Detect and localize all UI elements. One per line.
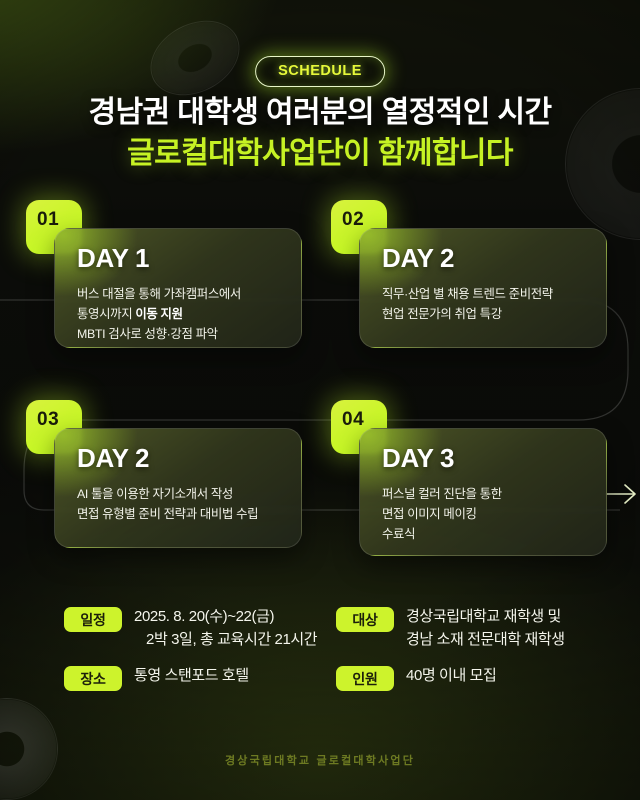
- desc-line: 직무·산업 별 채용 트렌드 준비전략: [382, 287, 553, 301]
- day-description-02: 직무·산업 별 채용 트렌드 준비전략 현업 전문가의 취업 특강: [382, 284, 588, 324]
- info-label-capacity: 인원: [336, 666, 394, 691]
- day-description-01: 버스 대절을 통해 가좌캠퍼스에서 통영시까지 이동 지원 MBTI 검사로 성…: [77, 284, 283, 344]
- schedule-badge: SCHEDULE: [255, 56, 385, 87]
- headline-line-2: 글로컬대학사업단이 함께합니다: [0, 133, 640, 174]
- info-value-line-1: 2025. 8. 20(수)~22(금): [134, 608, 274, 625]
- info-value-venue: 통영 스탠포드 호텔: [134, 665, 249, 688]
- info-value-line-2: 2박 3일, 총 교육시간 21시간: [134, 629, 317, 652]
- desc-line-bold: 이동 지원: [135, 307, 182, 321]
- info-label-audience: 대상: [336, 607, 394, 632]
- desc-line: 버스 대절을 통해 가좌캠퍼스에서: [77, 287, 241, 301]
- card-number-03: 03: [37, 409, 59, 431]
- info-value-line-2: 경남 소재 전문대학 재학생: [406, 629, 565, 652]
- day-description-03: AI 툴을 이용한 자기소개서 작성 면접 유형별 준비 전략과 대비법 수립: [77, 484, 283, 524]
- desc-line: 현업 전문가의 취업 특강: [382, 307, 502, 321]
- info-column-left: 일정 2025. 8. 20(수)~22(금) 2박 3일, 총 교육시간 21…: [64, 606, 317, 705]
- page-title: 경남권 대학생 여러분의 열정적인 시간 글로컬대학사업단이 함께합니다: [0, 92, 640, 175]
- day-title-02: DAY 2: [382, 245, 588, 271]
- info-value-line-1: 40명 이내 모집: [406, 667, 496, 684]
- day-title-04: DAY 3: [382, 445, 588, 471]
- footer-organization: 경상국립대학교 글로컬대학사업단: [0, 752, 640, 768]
- card-body-01: DAY 1 버스 대절을 통해 가좌캠퍼스에서 통영시까지 이동 지원 MBTI…: [54, 228, 302, 348]
- card-body-03: DAY 2 AI 툴을 이용한 자기소개서 작성 면접 유형별 준비 전략과 대…: [54, 428, 302, 548]
- info-row-venue: 장소 통영 스탠포드 호텔: [64, 665, 317, 691]
- info-column-right: 대상 경상국립대학교 재학생 및 경남 소재 전문대학 재학생 인원 40명 이…: [336, 606, 565, 705]
- desc-line: 면접 유형별 준비 전략과 대비법 수립: [77, 507, 258, 521]
- info-row-audience: 대상 경상국립대학교 재학생 및 경남 소재 전문대학 재학생: [336, 606, 565, 651]
- info-value-schedule: 2025. 8. 20(수)~22(금) 2박 3일, 총 교육시간 21시간: [134, 606, 317, 651]
- info-label-venue: 장소: [64, 666, 122, 691]
- arrow-right-icon[interactable]: [604, 479, 638, 509]
- card-body-02: DAY 2 직무·산업 별 채용 트렌드 준비전략 현업 전문가의 취업 특강: [359, 228, 607, 348]
- card-number-02: 02: [342, 209, 364, 231]
- card-body-04: DAY 3 퍼스널 컬러 진단을 통한 면접 이미지 메이킹 수료식: [359, 428, 607, 556]
- desc-line: 수료식: [382, 527, 415, 541]
- info-value-line-1: 경상국립대학교 재학생 및: [406, 608, 561, 625]
- poster-root: SCHEDULE 경남권 대학생 여러분의 열정적인 시간 글로컬대학사업단이 …: [0, 0, 640, 800]
- desc-line: MBTI 검사로 성향·강점 파악: [77, 327, 218, 341]
- desc-line: AI 툴을 이용한 자기소개서 작성: [77, 487, 233, 501]
- info-value-capacity: 40명 이내 모집: [406, 665, 496, 688]
- info-row-schedule: 일정 2025. 8. 20(수)~22(금) 2박 3일, 총 교육시간 21…: [64, 606, 317, 651]
- info-label-schedule: 일정: [64, 607, 122, 632]
- day-title-03: DAY 2: [77, 445, 283, 471]
- day-description-04: 퍼스널 컬러 진단을 통한 면접 이미지 메이킹 수료식: [382, 484, 588, 544]
- card-number-01: 01: [37, 209, 59, 231]
- info-row-capacity: 인원 40명 이내 모집: [336, 665, 565, 691]
- day-title-01: DAY 1: [77, 245, 283, 271]
- info-value-line-1: 통영 스탠포드 호텔: [134, 667, 249, 684]
- info-value-audience: 경상국립대학교 재학생 및 경남 소재 전문대학 재학생: [406, 606, 565, 651]
- desc-line: 통영시까지: [77, 307, 135, 321]
- card-number-04: 04: [342, 409, 364, 431]
- desc-line: 면접 이미지 메이킹: [382, 507, 477, 521]
- headline-line-1: 경남권 대학생 여러분의 열정적인 시간: [0, 92, 640, 133]
- desc-line: 퍼스널 컬러 진단을 통한: [382, 487, 502, 501]
